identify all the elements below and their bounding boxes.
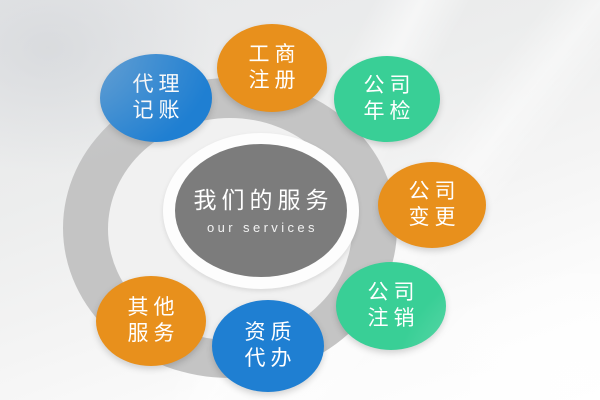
- service-bubble-qitafuwu[interactable]: 其他 服务: [96, 276, 206, 366]
- center-title-en: our services: [204, 220, 318, 235]
- service-bubble-gongsizhuxiao[interactable]: 公司 注销: [336, 262, 446, 350]
- service-label-line2: 代办: [240, 348, 297, 370]
- service-label-line2: 注销: [363, 308, 420, 330]
- service-label-line1: 公司: [404, 181, 461, 203]
- service-label-line2: 变更: [404, 207, 461, 229]
- service-bubble-gongsinianjian[interactable]: 公司 年检: [334, 56, 440, 142]
- service-label-line1: 代理: [128, 74, 185, 96]
- service-bubble-zizhidaiban[interactable]: 资质 代办: [212, 300, 324, 392]
- service-label-line2: 注册: [244, 70, 301, 92]
- service-label-line2: 记账: [128, 100, 185, 122]
- service-wheel-diagram: 我们的服务 our services 代理 记账 工商 注册 公司 年检 公司 …: [0, 0, 600, 400]
- center-title-cn: 我们的服务: [189, 186, 334, 215]
- service-bubble-gongsibiangeng[interactable]: 公司 变更: [378, 162, 486, 248]
- center-hub: 我们的服务 our services: [175, 144, 347, 277]
- service-label-line1: 公司: [363, 282, 420, 304]
- service-label-line2: 服务: [123, 323, 180, 345]
- service-label-line1: 公司: [359, 75, 416, 97]
- service-bubble-gongshangzhuce[interactable]: 工商 注册: [217, 24, 327, 112]
- service-label-line1: 工商: [244, 44, 301, 66]
- service-label-line2: 年检: [359, 101, 416, 123]
- service-label-line1: 资质: [240, 322, 297, 344]
- service-label-line1: 其他: [123, 297, 180, 319]
- service-bubble-dailijizhang[interactable]: 代理 记账: [100, 54, 212, 142]
